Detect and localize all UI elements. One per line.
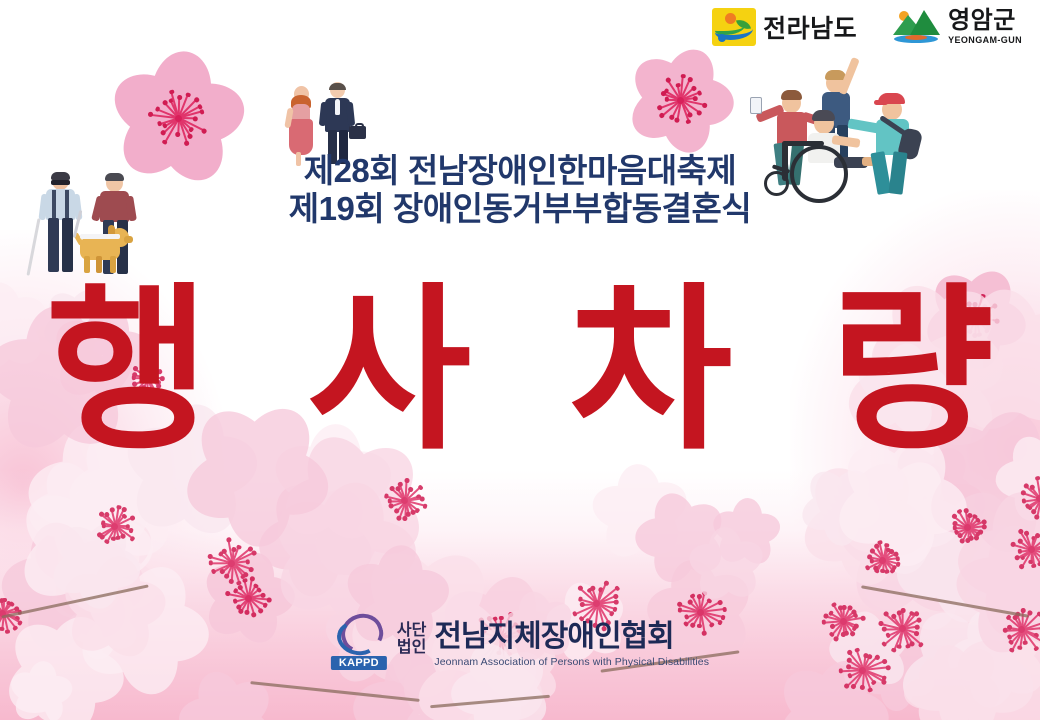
yeongam-label: 영암군	[948, 9, 1022, 33]
headline-text: 행 사 차 량	[0, 282, 1040, 460]
association-name-en: Jeonnam Association of Persons with Phys…	[434, 656, 709, 668]
association-prefix: 사단 법인	[397, 623, 426, 657]
yeongam-logo: 영암군 YEONGAM-GUN	[891, 9, 1022, 45]
jeollanamdo-emblem-icon	[712, 8, 756, 46]
blossom-branch	[861, 585, 1029, 617]
blossom-branch	[250, 681, 419, 702]
bottom-pink-wash	[0, 470, 1040, 720]
kappd-badge-label: KAPPD	[331, 656, 387, 670]
event-title-line1: 제28회 전남장애인한마음대축제	[0, 152, 1040, 190]
blossom-branch	[430, 695, 550, 708]
association-logo: KAPPD 사단 법인 전남지체장애인협회 Jeonnam Associatio…	[331, 611, 709, 668]
yeongam-sublabel: YEONGAM-GUN	[948, 36, 1022, 45]
event-title-line2: 제19회 장애인동거부부합동결혼식	[0, 190, 1040, 228]
government-logos: 전라남도 영암군 YEONGAM-GUN	[712, 8, 1022, 46]
association-prefix-line1: 사단	[397, 623, 426, 640]
association-prefix-line2: 법인	[397, 640, 426, 657]
yeongam-gun-emblem-icon	[891, 9, 941, 45]
jeollanamdo-logo: 전라남도	[712, 8, 857, 46]
association-name-kr: 전남지체장애인협회	[434, 611, 709, 655]
blossom-branch	[1, 584, 148, 618]
event-vehicle-poster: 전라남도 영암군 YEONGAM-GUN	[0, 0, 1040, 720]
kappd-mark-icon: KAPPD	[331, 613, 389, 667]
jeollanamdo-label: 전라남도	[763, 9, 857, 45]
event-title: 제28회 전남장애인한마음대축제 제19회 장애인동거부부합동결혼식	[0, 152, 1040, 229]
